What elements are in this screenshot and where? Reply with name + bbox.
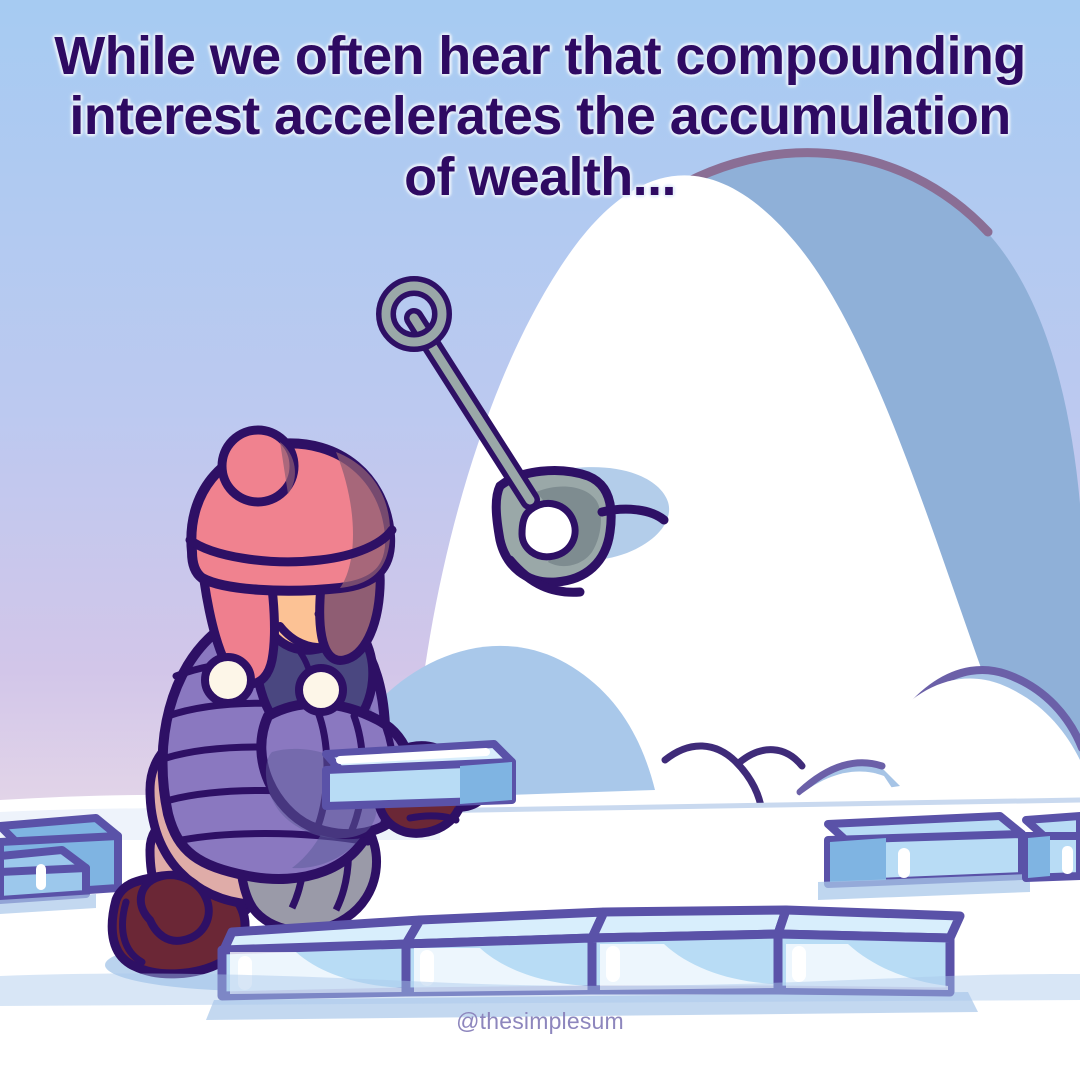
tassel-ball-left — [205, 657, 251, 703]
pompom — [222, 430, 294, 502]
tassel-ball-right — [299, 668, 343, 712]
watermark-handle: @thesimplesum — [0, 1008, 1080, 1035]
scene-illustration — [0, 0, 1080, 1080]
ice-block-wall-2 — [406, 912, 604, 992]
ice-block-right-2 — [1026, 816, 1080, 878]
ice-block-right-1 — [818, 816, 1030, 900]
ice-block-wall-3 — [592, 910, 786, 990]
illustration-canvas: While we often hear that compounding int… — [0, 0, 1080, 1080]
ice-block-carried — [326, 744, 512, 806]
